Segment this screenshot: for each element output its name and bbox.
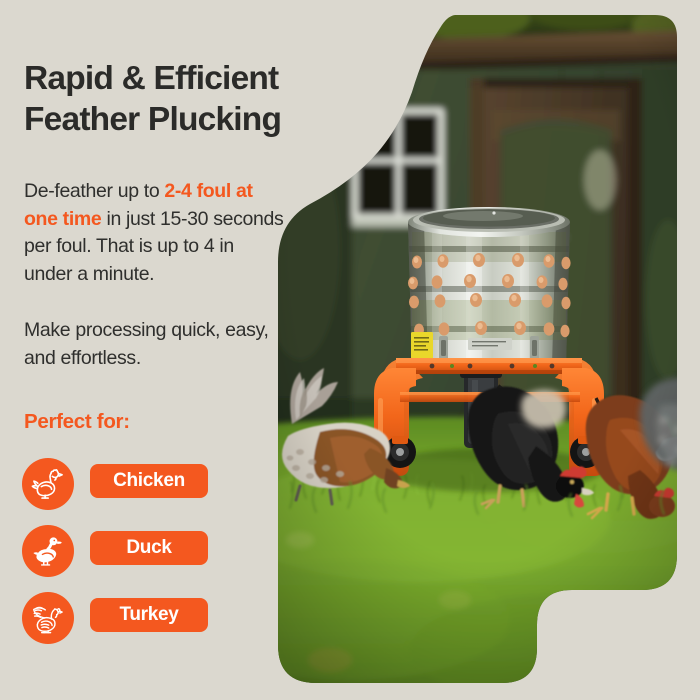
badge-duck-pill[interactable]: Duck bbox=[90, 531, 208, 565]
badge-chicken[interactable]: Chicken bbox=[22, 458, 322, 510]
para1-highlight-quantity: 2-4 foul bbox=[164, 180, 231, 202]
badge-chicken-label: Chicken bbox=[113, 470, 185, 492]
badge-duck-label: Duck bbox=[126, 537, 171, 559]
badge-turkey-icon-circle bbox=[22, 592, 74, 644]
para1-text-lead: De-feather up to bbox=[24, 180, 164, 202]
perfect-for-heading: Perfect for: bbox=[24, 409, 130, 435]
feature-paragraph-2: Make processing quick, easy, and effortl… bbox=[24, 317, 286, 372]
badge-chicken-pill[interactable]: Chicken bbox=[90, 464, 208, 498]
poultry-badge-list: Chicken bbox=[22, 458, 322, 659]
badge-chicken-icon-circle bbox=[22, 458, 74, 510]
badge-duck[interactable]: Duck bbox=[22, 525, 322, 577]
promo-banner: Rapid & EfficientFeather Plucking De-fea… bbox=[0, 0, 700, 700]
badge-turkey-label: Turkey bbox=[119, 604, 178, 626]
duck-icon bbox=[31, 534, 65, 568]
badge-duck-icon-circle bbox=[22, 525, 74, 577]
feature-paragraph-1: De-feather up to 2-4 foul at one time in… bbox=[24, 178, 286, 288]
headline-line-1: Rapid & Efficient bbox=[24, 60, 278, 97]
badge-turkey-pill[interactable]: Turkey bbox=[90, 598, 208, 632]
chicken-icon bbox=[31, 467, 65, 501]
badge-turkey[interactable]: Turkey bbox=[22, 592, 322, 644]
turkey-icon bbox=[31, 601, 65, 635]
page-title: Rapid & EfficientFeather Plucking bbox=[24, 58, 364, 140]
headline-line-2: Feather Plucking bbox=[24, 101, 281, 138]
